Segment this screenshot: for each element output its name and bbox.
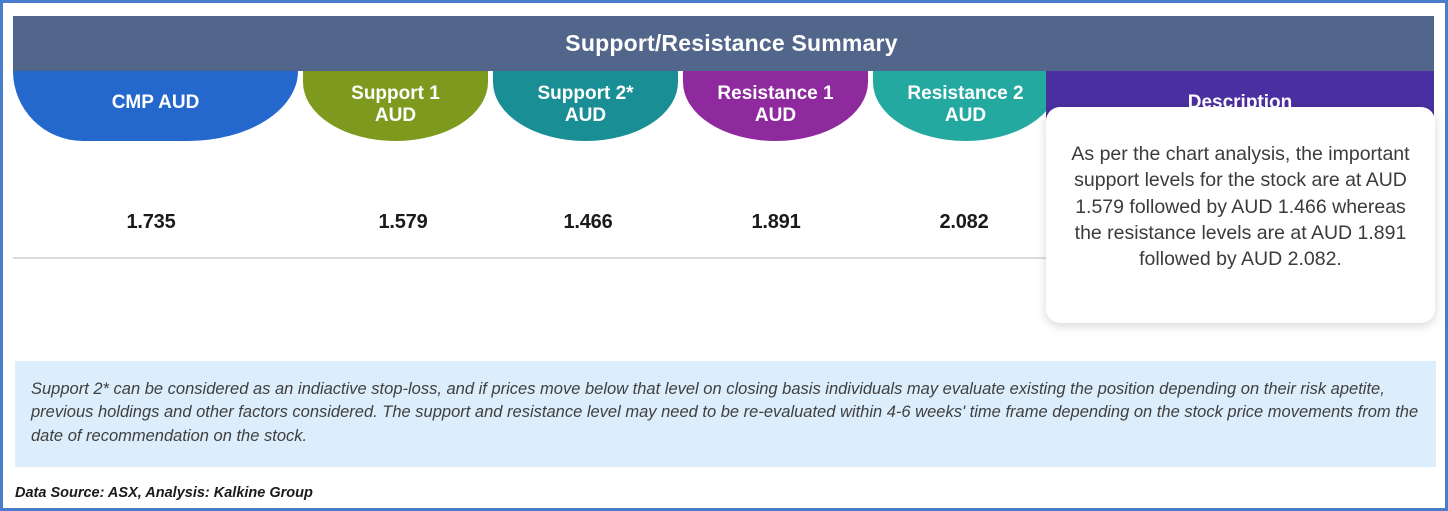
value-cmp-aud: 1.735: [41, 198, 261, 246]
column-header-support-1-aud: Support 1 AUD: [303, 71, 488, 141]
column-header-support-1-aud-line1: Support 1: [351, 83, 440, 104]
footnote-text: Support 2* can be considered as an india…: [31, 378, 1420, 448]
column-header-cmp-aud: CMP AUD: [13, 71, 298, 141]
description-text: As per the chart analysis, the important…: [1068, 141, 1413, 273]
value-support-2-aud: 1.466: [489, 198, 687, 246]
column-header-resistance-2-aud-line1: Resistance 2: [907, 83, 1023, 104]
value-support-1-aud: 1.579: [303, 198, 503, 246]
column-header-resistance-2-aud: Resistance 2 AUD: [873, 71, 1058, 141]
data-source-line: Data Source: ASX, Analysis: Kalkine Grou…: [15, 485, 313, 501]
value-resistance-2-aud: 2.082: [865, 198, 1063, 246]
column-header-resistance-2-aud-line2: AUD: [945, 105, 986, 126]
panel-title: Support/Resistance Summary: [565, 30, 897, 57]
column-header-support-2-aud-line2: AUD: [565, 105, 606, 126]
column-header-support-2-aud-line1: Support 2*: [537, 83, 633, 104]
column-header-resistance-1-aud-line1: Resistance 1: [717, 83, 833, 104]
support-resistance-summary-panel: Support/Resistance Summary CMP AUD Suppo…: [0, 0, 1448, 511]
values-row: 1.735 1.579 1.466 1.891 2.082: [13, 198, 1043, 246]
column-header-support-2-aud: Support 2* AUD: [493, 71, 678, 141]
column-header-support-1-aud-line2: AUD: [375, 105, 416, 126]
description-card: As per the chart analysis, the important…: [1046, 107, 1435, 323]
panel-title-bar: Support/Resistance Summary: [13, 16, 1434, 71]
value-resistance-1-aud: 1.891: [677, 198, 875, 246]
column-header-resistance-1-aud-line2: AUD: [755, 105, 796, 126]
footnote-box: Support 2* can be considered as an india…: [15, 361, 1436, 467]
column-header-resistance-1-aud: Resistance 1 AUD: [683, 71, 868, 141]
column-header-cmp-aud-line1: CMP AUD: [112, 92, 200, 113]
